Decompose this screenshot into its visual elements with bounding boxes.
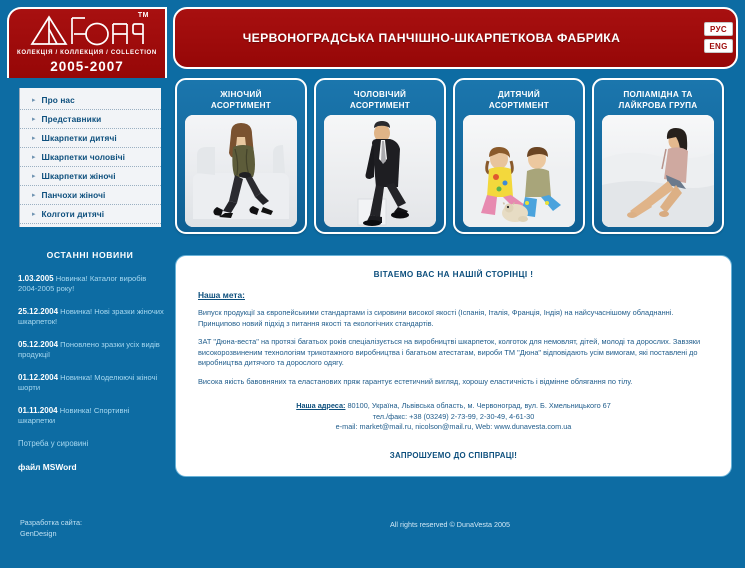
sidebar-item-label: Шкарпетки жіночі [42,171,116,181]
address-phone: тел./факс: +38 (03249) 2-73-99, 2-30-49,… [198,412,709,423]
category-title-women: ЖІНОЧИЙ АСОРТИМЕНТ [211,89,271,113]
lang-button-rus[interactable]: РУС [704,22,733,36]
news-list-item[interactable]: 1.03.2005 Новинка! Каталог виробів 2004-… [14,274,166,294]
address-label: Наша адреса: [296,401,345,410]
category-title-children: ДИТЯЧИЙ АСОРТИМЕНТ [489,89,549,113]
brand-logo[interactable]: TM КОЛЕКЦІЯ / КОЛЛЕКЦИЯ / COLLECTION 200… [7,7,167,78]
welcome-heading: ВІТАЕМО ВАС НА НАШІЙ СТОРІНЦІ ! [198,270,709,279]
category-panel-polyamide[interactable]: ПОЛІАМІДНА ТА ЛАЙКРОВА ГРУПА [592,78,724,234]
sidebar-item-socks-women[interactable]: ▸ Шкарпетки жіночі [20,167,161,186]
chevron-right-icon: ▸ [32,192,36,199]
chevron-right-icon: ▸ [32,211,36,218]
news-list-item[interactable]: 25.12.2004 Новинка! Нові зразки жіночих … [14,307,166,327]
news-date: 01.11.2004 [18,406,58,415]
chevron-right-icon: ▸ [32,173,36,180]
news-date: 05.12.2004 [18,340,58,349]
chevron-right-icon: ▸ [32,154,36,161]
company-title-panel: ЧЕРВОНОГРАДСЬКА ПАНЧІШНО-ШКАРПЕТКОВА ФАБ… [173,7,738,69]
address-block: Наша адреса: 80100, Україна, Львівська о… [198,401,709,433]
logo-years: 2005-2007 [50,59,124,74]
content-paragraph: ЗАТ "Дюна-веста" на протязі багатьох рок… [198,337,709,369]
news-date: 25.12.2004 [18,307,58,316]
photo-woman-in-fur-coat[interactable] [185,115,297,227]
content-paragraph: Випуск продукції за європейськими станда… [198,308,709,329]
sidebar-item-socks-men[interactable]: ▸ Шкарпетки чоловічі [20,148,161,167]
copyright-text: All rights reserved © DunaVesta 2005 [390,520,510,529]
main-content-panel: ВІТАЕМО ВАС НА НАШІЙ СТОРІНЦІ ! Наша мет… [175,255,732,477]
page-title: ЧЕРВОНОГРАДСЬКА ПАНЧІШНО-ШКАРПЕТКОВА ФАБ… [243,31,669,45]
site-footer: Разработка сайта: GenDesign All rights r… [0,500,745,568]
goal-label: Наша мета: [198,290,709,300]
developer-label: Разработка сайта: [20,518,82,529]
news-sidebar: ОСТАННІ НОВИНИ 1.03.2005 Новинка! Катало… [14,250,166,486]
category-panel-men[interactable]: ЧОЛОВІЧИЙ АСОРТИМЕНТ [314,78,446,234]
duna-wordmark-icon: TM [27,13,147,47]
address-email-web[interactable]: e-mail: market@mail.ru, nicolson@mail.ru… [198,422,709,433]
sidebar-item-about[interactable]: ▸ Про нас [20,91,161,110]
address-street: 80100, Україна, Львівська область, м. Че… [347,401,610,410]
category-title-men: ЧОЛОВІЧИЙ АСОРТИМЕНТ [350,89,410,113]
photo-two-children[interactable] [463,115,575,227]
news-list-item[interactable]: 05.12.2004 Поновлено зразки усіх видів п… [14,340,166,360]
site-header: ЧЕРВОНОГРАДСЬКА ПАНЧІШНО-ШКАРПЕТКОВА ФАБ… [0,0,745,78]
sidebar-item-stockings-women[interactable]: ▸ Панчохи жіночі [20,186,161,205]
developer-credit: Разработка сайта: GenDesign [20,518,82,539]
sidebar-menu: ▸ Про нас ▸ Представники ▸ Шкарпетки дит… [19,88,161,227]
address-line-1: Наша адреса: 80100, Україна, Львівська о… [198,401,709,412]
trademark-icon: TM [138,12,149,19]
cooperation-cta: ЗАПРОШУЕМО ДО СПІВПРАЦІ! [198,451,709,460]
photo-man-in-suit[interactable] [324,115,436,227]
sidebar-item-label: Панчохи жіночі [42,190,106,200]
lang-button-eng[interactable]: ENG [704,39,733,53]
news-date: 1.03.2005 [18,274,54,283]
sidebar-item-label: Шкарпетки дитячі [42,133,117,143]
sidebar-item-representatives[interactable]: ▸ Представники [20,110,161,129]
page-root: ЧЕРВОНОГРАДСЬКА ПАНЧІШНО-ШКАРПЕТКОВА ФАБ… [0,0,745,568]
sidebar-item-label: Про нас [42,95,75,105]
news-heading: ОСТАННІ НОВИНИ [14,250,166,260]
news-date: 01.12.2004 [18,373,58,382]
sidebar-item-tights-children[interactable]: ▸ Колготи дитячі [20,205,161,224]
sidebar-item-label: Шкарпетки чоловічі [42,152,126,162]
category-panel-women[interactable]: ЖІНОЧИЙ АСОРТИМЕНТ [175,78,307,234]
photo-woman-reclining[interactable] [602,115,714,227]
sidebar-item-label: Представники [42,114,102,124]
chevron-right-icon: ▸ [32,135,36,142]
developer-name-link[interactable]: GenDesign [20,529,82,540]
sidebar-item-label: Колготи дитячі [42,209,105,219]
news-link-raw-material[interactable]: Потреба у сировині [14,439,166,448]
language-switcher: РУС ENG [704,22,733,53]
product-category-panels: ЖІНОЧИЙ АСОРТИМЕНТ [175,78,739,236]
sidebar-item-socks-children[interactable]: ▸ Шкарпетки дитячі [20,129,161,148]
category-panel-children[interactable]: ДИТЯЧИЙ АСОРТИМЕНТ [453,78,585,234]
chevron-right-icon: ▸ [32,116,36,123]
logo-collection-line: КОЛЕКЦІЯ / КОЛЛЕКЦИЯ / COLLECTION [17,49,157,56]
chevron-right-icon: ▸ [32,97,36,104]
news-list-item[interactable]: 01.11.2004 Новинка! Спортивні шкарпетки [14,406,166,426]
content-paragraph: Висока якість бавовняних та еластанових … [198,377,709,388]
news-link-msword-file[interactable]: файл MSWord [14,462,166,472]
category-title-polyamide: ПОЛІАМІДНА ТА ЛАЙКРОВА ГРУПА [618,89,697,113]
news-list-item[interactable]: 01.12.2004 Новинка! Моделюючі жіночі шор… [14,373,166,393]
